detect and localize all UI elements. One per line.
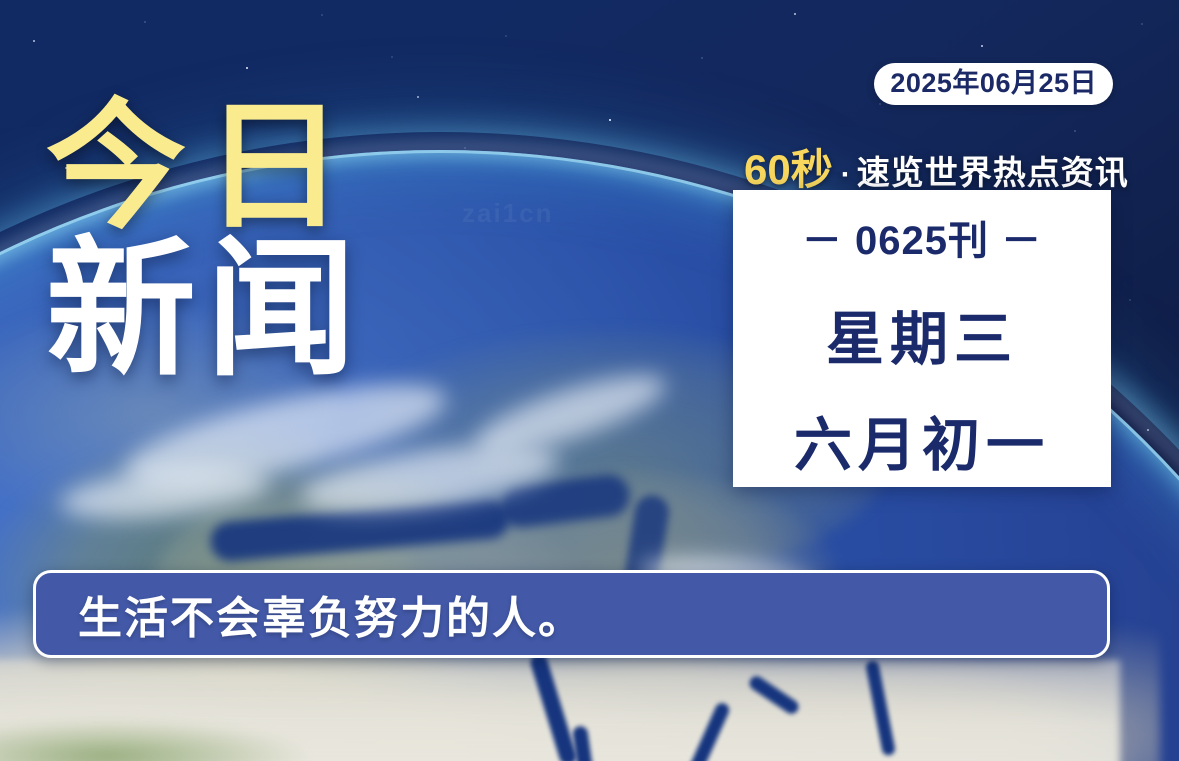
subtitle-separator: · bbox=[841, 158, 851, 192]
subtitle-text: 速览世界热点资讯 bbox=[857, 146, 1129, 194]
news-poster: zai1cn 今日 新闻 2025年06月25日 60秒 · 速览世界热点资讯 … bbox=[0, 0, 1179, 761]
quote-banner: 生活不会辜负努力的人。 bbox=[33, 570, 1110, 658]
headline-block: 今日 新闻 bbox=[46, 96, 476, 386]
weekday-label: 星期三 bbox=[826, 292, 1018, 376]
date-badge: 2025年06月25日 bbox=[874, 63, 1113, 105]
issue-card: － 0625刊 － 星期三 六月初一 bbox=[733, 190, 1111, 487]
issue-number: － 0625刊 － bbox=[802, 208, 1042, 266]
headline-line-today: 今日 bbox=[46, 96, 476, 239]
subtitle-row: 60秒 · 速览世界热点资讯 bbox=[744, 136, 1129, 197]
headline-line-news: 新闻 bbox=[46, 233, 476, 386]
subtitle-duration: 60秒 bbox=[744, 136, 833, 197]
lunar-date-label: 六月初一 bbox=[794, 398, 1050, 482]
quote-text: 生活不会辜负努力的人。 bbox=[78, 582, 584, 646]
